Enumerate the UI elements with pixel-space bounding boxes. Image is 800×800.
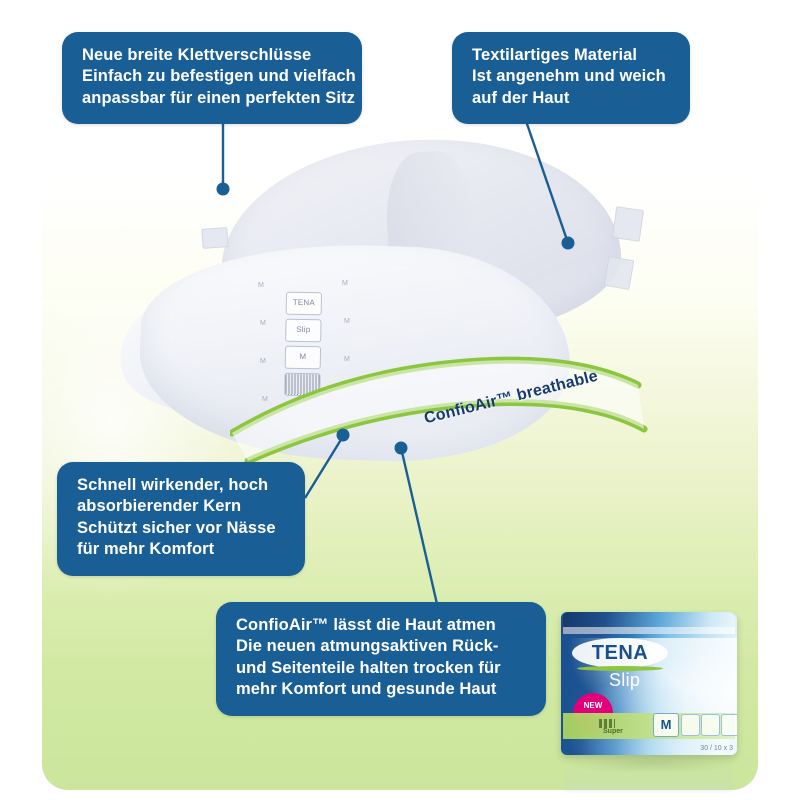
package-brand-logo: TENA — [572, 638, 668, 668]
callout-confioair-line-1: ConfioAir™ lässt die Haut atmen — [236, 615, 526, 636]
size-mark: M — [344, 318, 350, 325]
callout-confioair-line-3: und Seitenteile halten trocken für — [236, 658, 526, 679]
package-feature-icon-1 — [681, 714, 700, 736]
callout-material-line-2: Ist angenehm und weich — [472, 66, 670, 87]
package-feature-icon-3 — [721, 714, 737, 736]
callout-fasteners-line-2: Einfach zu befestigen und vielfach — [82, 66, 342, 87]
size-mark: M — [342, 280, 348, 287]
size-mark: M — [258, 282, 264, 289]
callout-material-line-1: Textilartiges Material — [472, 45, 670, 66]
package-new-badge-text: NEW — [584, 701, 603, 710]
package-body: TENA Slip NEW MEHR KOMFORT Super M 30 / … — [561, 612, 737, 755]
callout-confioair-line-2: Die neuen atmungsaktiven Rück- — [236, 636, 526, 657]
callout-core-line-1: Schnell wirkender, hoch — [77, 475, 285, 496]
callout-confioair[interactable]: ConfioAir™ lässt die Haut atmen Die neue… — [216, 602, 546, 716]
package-variant-label: Slip — [609, 670, 640, 691]
callout-core-line-3: Schützt sicher vor Nässe — [77, 518, 285, 539]
absorbency-droplets-icon — [599, 719, 615, 728]
product-package-tena-slip[interactable]: TENA Slip NEW MEHR KOMFORT Super M 30 / … — [561, 612, 737, 755]
size-mark: M — [260, 358, 266, 365]
size-mark: M — [262, 396, 268, 403]
product-photo-diaper: TENA Slip M barcode M M M M M M M M — [120, 130, 660, 475]
callout-confioair-line-4: mehr Komfort und gesunde Haut — [236, 679, 526, 700]
package-count-label: 30 / 10 x 3 — [700, 745, 733, 752]
callout-fasteners-line-3: anpassbar für einen perfekten Sitz — [82, 88, 342, 109]
poster-canvas: TENA Slip M barcode M M M M M M M M Conf… — [0, 0, 800, 800]
package-size-label: M — [653, 713, 679, 737]
callout-core-line-2: absorbierender Kern — [77, 496, 285, 517]
callout-fasteners-line-1: Neue breite Klettverschlüsse — [82, 45, 342, 66]
callout-material-line-3: auf der Haut — [472, 88, 670, 109]
size-mark: M — [344, 356, 350, 363]
callout-fasteners[interactable]: Neue breite Klettverschlüsse Einfach zu … — [62, 32, 362, 124]
size-mark: M — [260, 320, 266, 327]
package-top-seal — [563, 612, 735, 634]
package-absorbency-label: Super — [603, 728, 623, 735]
callout-core[interactable]: Schnell wirkender, hoch absorbierender K… — [57, 462, 305, 576]
diaper-size-marks: M M M M M M M M — [120, 130, 660, 475]
package-reflection — [565, 756, 733, 792]
size-mark: M — [306, 435, 312, 442]
package-feature-icon-2 — [701, 714, 720, 736]
callout-material[interactable]: Textilartiges Material Ist angenehm und … — [452, 32, 690, 124]
callout-core-line-4: für mehr Komfort — [77, 539, 285, 560]
